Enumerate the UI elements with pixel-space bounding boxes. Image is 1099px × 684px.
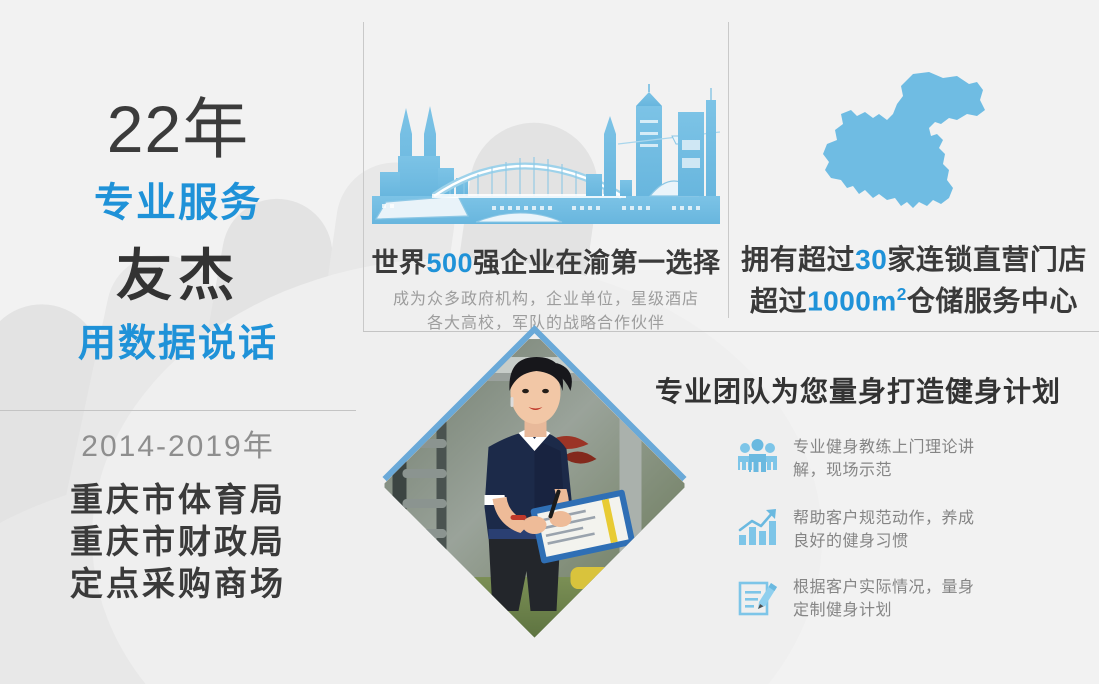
award-period: 2014-2019年 [0, 432, 356, 462]
feature-text-line: 良好的健身习惯 [793, 530, 975, 553]
city-headline-post: 强企业在渝第一选择 [473, 248, 721, 278]
brand-tagline: 用数据说话 [0, 325, 356, 363]
feature-text-line: 专业健身教练上门理论讲 [793, 436, 975, 459]
city-subtext-line: 各大高校，军队的战略合作伙伴 [364, 316, 728, 332]
plan-title: 专业团队为您量身打造健身计划 [655, 378, 1075, 406]
city-headline-number: 500 [426, 248, 473, 278]
feature-text-line: 定制健身计划 [793, 599, 975, 622]
award-item: 重庆市体育局 [0, 483, 356, 516]
feature-item: 根据客户实际情况，量身 定制健身计划 [735, 574, 1065, 622]
bar-chart-growth-icon [735, 505, 781, 551]
warehouse-area-unit-exponent: 2 [897, 284, 907, 304]
chongqing-map-icon [817, 70, 1017, 232]
feature-item: 帮助客户规范动作，养成 良好的健身习惯 [735, 505, 1065, 553]
city-headline: 世界500强企业在渝第一选择 [364, 250, 728, 277]
city-headline-pre: 世界 [371, 248, 426, 278]
years-headline: 22年 [0, 96, 356, 162]
warehouse-area-number: 1000 [807, 285, 871, 316]
brand-column: 22年 专业服务 友杰 用数据说话 2014-2019年 重庆市体育局 重庆市财… [0, 0, 356, 684]
three-people-icon [735, 434, 781, 480]
store-panel: 拥有超过30家连锁直营门店 超过1000m2仓储服务中心 [729, 22, 1099, 330]
infographic-canvas: 22年 专业服务 友杰 用数据说话 2014-2019年 重庆市体育局 重庆市财… [0, 0, 1099, 684]
warehouse-area-unit: m [871, 285, 896, 316]
store-count-number: 30 [855, 244, 887, 275]
store-count-line: 拥有超过30家连锁直营门店 [729, 246, 1099, 274]
feature-text-line: 帮助客户规范动作，养成 [793, 507, 975, 530]
feature-text-line: 根据客户实际情况，量身 [793, 576, 975, 599]
feature-item: 专业健身教练上门理论讲 解，现场示范 [735, 434, 1065, 482]
award-item: 重庆市财政局 [0, 525, 356, 558]
warehouse-area-line: 超过1000m2仓储服务中心 [729, 286, 1099, 315]
store-line2-pre: 超过 [750, 285, 807, 316]
feature-text: 根据客户实际情况，量身 定制健身计划 [793, 574, 975, 622]
chongqing-skyline-icon [372, 84, 720, 224]
service-subtitle: 专业服务 [0, 183, 356, 223]
brand-name: 友杰 [0, 248, 356, 304]
city-subtext-line: 成为众多政府机构，企业单位，星级酒店 [364, 292, 728, 308]
award-item: 定点采购商场 [0, 567, 356, 600]
store-line1-pre: 拥有超过 [741, 244, 855, 275]
feature-text: 专业健身教练上门理论讲 解，现场示范 [793, 434, 975, 482]
city-panel: 世界500强企业在渝第一选择 成为众多政府机构，企业单位，星级酒店 各大高校，军… [364, 22, 728, 330]
store-line2-post: 仓储服务中心 [907, 285, 1078, 316]
document-pencil-icon [735, 574, 781, 620]
feature-text-line: 解，现场示范 [793, 459, 975, 482]
feature-text: 帮助客户规范动作，养成 良好的健身习惯 [793, 505, 975, 553]
store-line1-post: 家连锁直营门店 [887, 244, 1087, 275]
